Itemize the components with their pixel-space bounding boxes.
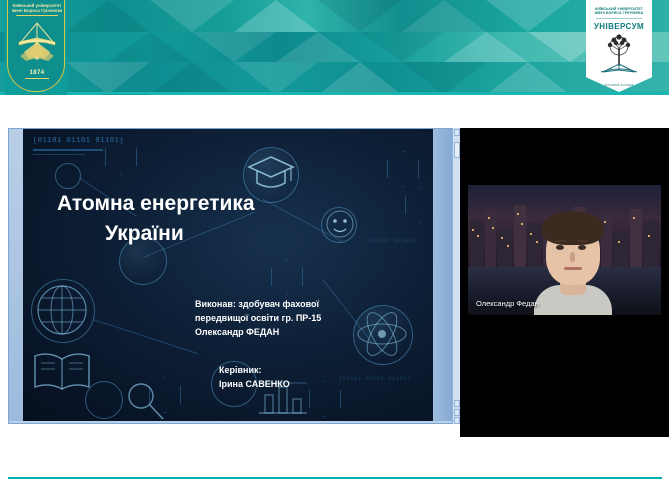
slide-globe-icon xyxy=(31,279,93,341)
participant-mouth xyxy=(564,267,582,270)
slide-title-line2: України xyxy=(57,219,357,249)
header-triangle-2 xyxy=(234,0,318,32)
skyline-building xyxy=(514,205,526,267)
header-triangle-7 xyxy=(108,32,192,62)
slide-vertical-scrollbar[interactable] xyxy=(452,128,460,424)
slide-supervisor-name: Ірина САВЕНКО xyxy=(219,377,399,391)
slide-title-line1: Атомна енергетика xyxy=(57,192,255,215)
header-triangle-6 xyxy=(66,0,150,32)
slide-deco-line-4 xyxy=(93,319,198,354)
building-window-light xyxy=(648,235,650,237)
slide-open-book-icon xyxy=(29,347,95,397)
universum-badge-logo: КИЇВСЬКИЙ УНІВЕРСИТЕТ ІМЕНІ БОРИСА ГРІНЧ… xyxy=(586,0,652,92)
crest-name-line2: імені Бориса Грінченка xyxy=(8,8,65,13)
badge-university-line1: КИЇВСЬКИЙ УНІВЕРСИТЕТ xyxy=(586,0,652,11)
header-triangle-13 xyxy=(66,62,150,95)
slide-right-margin xyxy=(433,129,452,421)
building-window-light xyxy=(492,227,494,229)
slide-deco-circle-1 xyxy=(55,163,81,189)
participant-avatar xyxy=(530,207,616,315)
video-conference-panel[interactable]: Олександр Федан xyxy=(460,128,669,437)
badge-divider xyxy=(596,18,642,19)
skyline-building xyxy=(630,209,642,267)
participant-eye-right xyxy=(578,245,586,250)
header-triangle-4 xyxy=(402,0,486,32)
slide-deco-hexagon-6 xyxy=(271,259,303,295)
badge-tree-and-book-icon xyxy=(586,32,652,78)
building-window-light xyxy=(618,241,620,243)
building-window-light xyxy=(517,213,519,215)
header-triangle-11 xyxy=(444,32,528,62)
slide-author-group: передвищої освіти гр. ПР-15 xyxy=(195,311,410,325)
slide-left-margin xyxy=(9,129,23,421)
header-triangle-5 xyxy=(486,0,570,32)
page-header: Київський університет імені Бориса Грінч… xyxy=(0,0,669,95)
slide-supervisor-block: Керівник: Ірина САВЕНКО xyxy=(219,363,399,391)
slide-supervisor-label: Керівник: xyxy=(219,363,399,377)
participant-hair xyxy=(542,211,604,245)
participant-eyebrow-right xyxy=(577,240,588,242)
crest-year-underline xyxy=(25,78,49,79)
slide-author-name: Олександр ФЕДАН xyxy=(195,325,410,339)
slide-deco-hexagon-3 xyxy=(405,187,433,223)
header-triangle-8 xyxy=(192,32,276,62)
participant-video-tile[interactable]: Олександр Федан xyxy=(468,185,661,315)
building-window-light xyxy=(472,229,474,231)
building-window-light xyxy=(501,237,503,239)
building-window-light xyxy=(507,245,509,247)
participant-nose xyxy=(570,252,575,262)
building-window-light xyxy=(477,235,479,237)
header-triangle-3 xyxy=(318,0,402,32)
slide-deco-code-mid: [01101 01101] xyxy=(368,237,417,244)
skyline-building xyxy=(497,229,513,267)
header-triangle-14 xyxy=(150,62,234,95)
crest-divider xyxy=(16,15,58,16)
header-underline xyxy=(0,92,669,95)
crest-founding-year: 1874 xyxy=(8,70,65,76)
header-triangle-16 xyxy=(318,62,402,95)
slide-deco-bar-2 xyxy=(33,154,85,155)
slide-author-block: Виконав: здобувач фахової передвищої осв… xyxy=(195,297,410,339)
university-crest-logo: Київський університет імені Бориса Грінч… xyxy=(5,0,67,95)
presentation-slide[interactable]: [01101 01101 01101] [01101 01101] [01101… xyxy=(23,129,433,421)
header-triangle-9 xyxy=(276,32,360,62)
crest-sunburst-icon xyxy=(18,40,56,64)
footer-divider xyxy=(8,477,662,479)
slide-title: Атомна енергетика України xyxy=(57,189,357,249)
crest-shield-shape: Київський університет імені Бориса Грінч… xyxy=(7,0,65,92)
participant-name-label: Олександр Федан xyxy=(476,299,539,308)
building-window-light xyxy=(633,217,635,219)
header-triangle-10 xyxy=(360,32,444,62)
participant-eyebrow-left xyxy=(555,240,566,242)
header-bottom-tab xyxy=(100,94,150,95)
slide-deco-code-top: [01101 01101 01101] xyxy=(33,137,124,145)
slide-deco-bar-1 xyxy=(33,149,103,151)
participant-eye-left xyxy=(556,245,564,250)
building-window-light xyxy=(488,217,490,219)
skyline-building xyxy=(643,221,659,267)
slide-deco-hexagon-2 xyxy=(387,151,419,187)
header-triangle-18 xyxy=(486,62,570,95)
badge-university-line2: ІМЕНІ БОРИСА ГРІНЧЕНКА xyxy=(586,11,652,15)
header-triangle-15 xyxy=(234,62,318,95)
slide-author-label: Виконав: здобувач фахової xyxy=(195,297,410,311)
slide-magnifier-icon xyxy=(123,379,167,421)
skyline-building xyxy=(470,221,484,267)
badge-title: УНІВЕРСУМ xyxy=(586,22,652,31)
skyline-building xyxy=(485,209,496,267)
header-triangle-1 xyxy=(150,0,234,32)
building-window-light xyxy=(521,223,523,225)
header-triangle-17 xyxy=(402,62,486,95)
